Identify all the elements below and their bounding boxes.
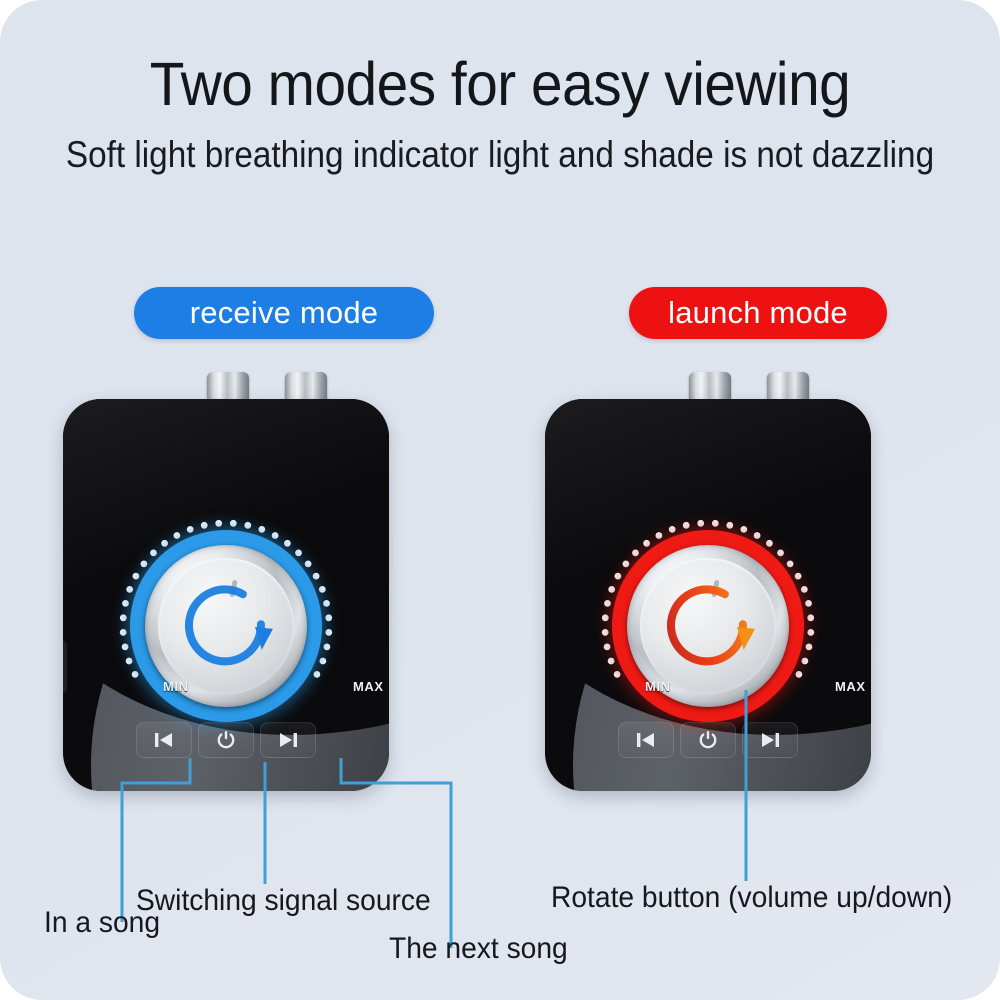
power-icon (698, 730, 718, 750)
next-track-button[interactable] (260, 722, 316, 758)
rotate-clockwise-arrow-icon (640, 558, 776, 694)
page-title: Two modes for easy viewing (35, 52, 965, 116)
volume-dial-receive[interactable] (111, 511, 341, 741)
dial-min-label: MIN (645, 679, 671, 694)
knob-face (158, 558, 294, 694)
power-button[interactable] (198, 722, 254, 758)
control-button-row (136, 722, 316, 758)
previous-track-icon (635, 731, 657, 749)
power-button[interactable] (680, 722, 736, 758)
control-button-row (618, 722, 798, 758)
callout-label-switching-source: Switching signal source (136, 884, 431, 918)
badge-launch-mode: launch mode (629, 287, 887, 339)
dial-max-label: MAX (835, 679, 866, 694)
next-track-icon (759, 731, 781, 749)
previous-track-button[interactable] (618, 722, 674, 758)
callout-label-next-song: The next song (389, 932, 568, 966)
side-port (63, 641, 67, 693)
volume-dial-launch[interactable] (593, 511, 823, 741)
dial-max-label: MAX (353, 679, 384, 694)
dial-min-label: MIN (163, 679, 189, 694)
knob-face (640, 558, 776, 694)
page-subtitle: Soft light breathing indicator light and… (50, 135, 950, 176)
badge-receive-mode: receive mode (134, 287, 434, 339)
product-feature-image: Two modes for easy viewing Soft light br… (0, 0, 1000, 1000)
previous-track-button[interactable] (136, 722, 192, 758)
next-track-icon (277, 731, 299, 749)
device-launch-mode: MIN MAX (545, 399, 871, 791)
next-track-button[interactable] (742, 722, 798, 758)
previous-track-icon (153, 731, 175, 749)
callout-label-rotate-button: Rotate button (volume up/down) (551, 881, 952, 915)
rotate-clockwise-arrow-icon (158, 558, 294, 694)
device-receive-mode: MIN MAX (63, 399, 389, 791)
power-icon (216, 730, 236, 750)
